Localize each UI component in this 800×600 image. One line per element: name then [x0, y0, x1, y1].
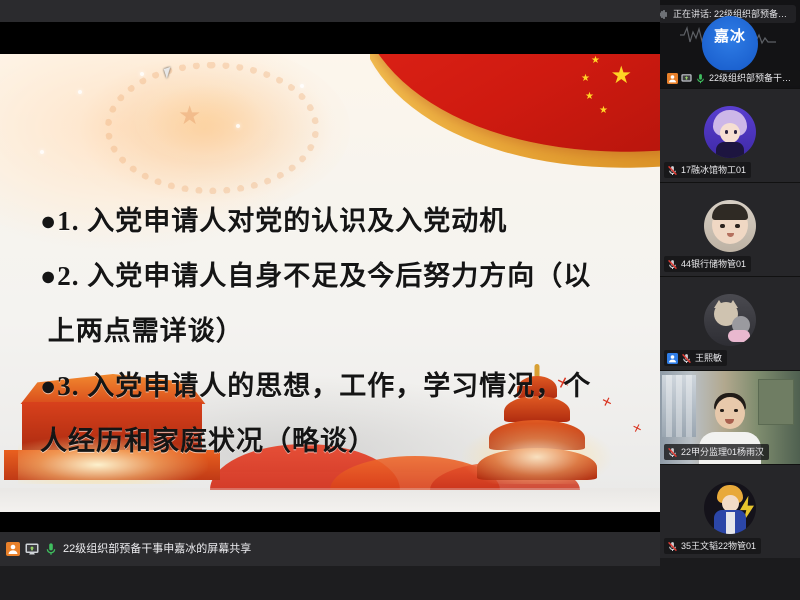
- slide-bullet-list: ●1. 入党申请人对党的认识及入党动机 ●2. 入党申请人自身不足及今后努力方向…: [40, 194, 640, 469]
- shared-content: ★ ★ ★ ★ ★: [0, 22, 660, 544]
- participant-name-label: 22甲分监理01杨雨汉: [681, 446, 764, 458]
- avatar: 嘉冰: [702, 16, 758, 72]
- participant-tile[interactable]: 17融冰馆物工01: [660, 88, 800, 182]
- participant-tile[interactable]: 44银行储物管01: [660, 182, 800, 276]
- participant-namebar: 17融冰馆物工01: [664, 162, 751, 178]
- speaker-name-label: 22级组织部预备干事申嘉冰...: [709, 72, 795, 84]
- flag-star-small: ★: [585, 92, 594, 102]
- avatar: [704, 294, 756, 346]
- participant-namebar: 王熙敏: [664, 350, 727, 366]
- share-top-strip: [0, 0, 660, 22]
- share-owner-chip: 22级组织部预备干事申嘉冰的屏幕共享: [0, 542, 251, 556]
- participant-icon: [667, 353, 678, 364]
- sparkle-icon: [140, 72, 144, 76]
- emblem-core: [135, 78, 275, 162]
- participant-rail[interactable]: 正在讲话: 22级组织部预备干事... 嘉冰 22级组织部预备干事申嘉冰...: [660, 0, 800, 600]
- participant-name-label: 44银行储物管01: [681, 258, 746, 270]
- slide-bullet-3: ●3. 入党申请人的思想，工作，学习情况，个 人经历和家庭状况（略谈）: [40, 359, 640, 469]
- active-speaker-tile[interactable]: 正在讲话: 22级组织部预备干事... 嘉冰 22级组织部预备干事申嘉冰...: [660, 0, 800, 88]
- participant-namebar: 35王文韬22物管01: [664, 538, 761, 554]
- participant-namebar: 44银行储物管01: [664, 256, 751, 272]
- microphone-muted-icon: [667, 165, 678, 176]
- slide-ground: [0, 488, 660, 512]
- microphone-muted-icon: [667, 447, 678, 458]
- participant-name-label: 35王文韬22物管01: [681, 540, 756, 552]
- sparkle-icon: [78, 90, 82, 94]
- screen-share-icon: [25, 542, 39, 556]
- microphone-icon: [44, 542, 58, 556]
- sparkle-icon: [40, 150, 44, 154]
- slide-bullet-1: ●1. 入党申请人对党的认识及入党动机: [40, 194, 640, 249]
- presentation-slide: ★ ★ ★ ★ ★: [0, 54, 660, 512]
- avatar-initials: 嘉冰: [702, 25, 758, 46]
- avatar: [704, 482, 756, 534]
- speaking-wave-icon: [660, 9, 669, 20]
- microphone-muted-icon: [667, 541, 678, 552]
- speaker-namebar: 22级组织部预备干事申嘉冰...: [664, 70, 800, 86]
- participant-tile[interactable]: 35王文韬22物管01: [660, 464, 800, 558]
- participant-name-label: 17融冰馆物工01: [681, 164, 746, 176]
- chinese-flag-graphic: ★ ★ ★ ★ ★: [370, 54, 660, 204]
- participant-tile[interactable]: 王熙敏: [660, 276, 800, 370]
- share-status-bar: 22级组织部预备干事申嘉冰的屏幕共享: [0, 532, 660, 566]
- flag-star-large: ★: [610, 64, 632, 88]
- avatar: [704, 106, 756, 158]
- shared-screen-area[interactable]: ★ ★ ★ ★ ★: [0, 0, 660, 566]
- participant-icon: [667, 73, 678, 84]
- flag-star-small: ★: [599, 106, 608, 116]
- sparkle-icon: [300, 84, 304, 88]
- slide-bullet-2: ●2. 入党申请人自身不足及今后努力方向（以 上两点需详谈）: [40, 249, 640, 359]
- sparkle-icon: [236, 124, 240, 128]
- participant-name-label: 王熙敏: [695, 352, 722, 364]
- flag-star-small: ★: [591, 56, 600, 66]
- microphone-muted-icon: [667, 259, 678, 270]
- microphone-icon: [695, 73, 706, 84]
- screen-share-icon: [681, 73, 692, 84]
- share-owner-label: 22级组织部预备干事申嘉冰的屏幕共享: [63, 542, 251, 556]
- avatar: [704, 200, 756, 252]
- meeting-window: ★ ★ ★ ★ ★: [0, 0, 800, 600]
- participant-namebar: 22甲分监理01杨雨汉: [664, 444, 769, 460]
- flag-star-small: ★: [581, 74, 590, 84]
- participant-icon: [6, 542, 20, 556]
- participant-tile[interactable]: 22甲分监理01杨雨汉: [660, 370, 800, 464]
- microphone-muted-icon: [681, 353, 692, 364]
